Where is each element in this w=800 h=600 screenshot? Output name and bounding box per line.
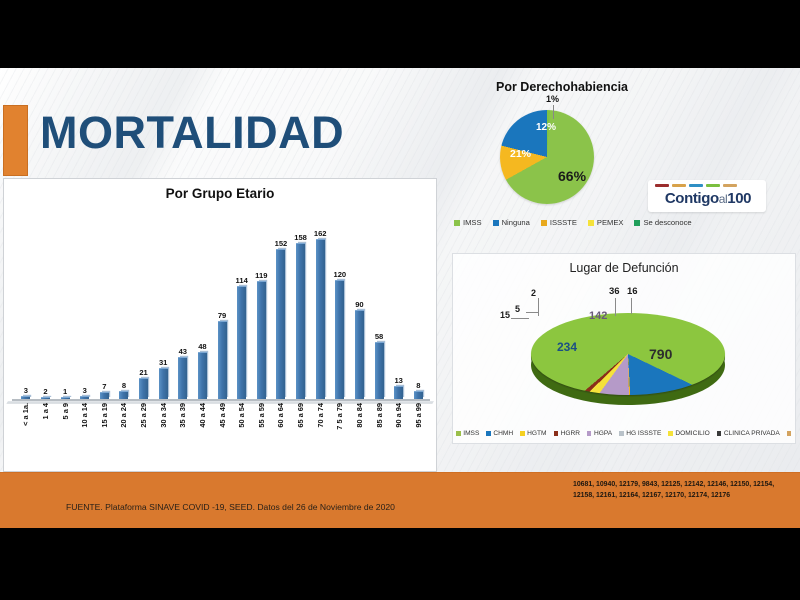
- logo-word-100: 100: [727, 190, 751, 207]
- bar-value-label: 120: [333, 270, 346, 279]
- bar-column: 48: [193, 209, 213, 399]
- pie-slice-label-hgtm-count: 15: [500, 310, 510, 320]
- legend-label: HG ISSSTE: [626, 430, 661, 437]
- legend-label: Se desconoce: [643, 218, 691, 227]
- logo-dash: [672, 184, 686, 187]
- derechohabiencia-legend: IMSSNingunaISSSTEPEMEXSe desconoce: [446, 218, 746, 227]
- legend-item: PEMEX: [588, 218, 624, 227]
- leader-line-36: [615, 298, 616, 316]
- footer-source-text: FUENTE. Plataforma SINAVE COVID -19, SEE…: [66, 502, 395, 512]
- derechohabiencia-title: Por Derechohabiencia: [440, 80, 684, 94]
- pie-slice-label-hgrr-count: 5: [515, 304, 520, 314]
- x-axis-label: 90 a 94: [389, 403, 409, 467]
- bar-rect: [139, 378, 148, 399]
- bar-column: 8: [409, 209, 429, 399]
- x-axis-label: < a 1a.: [16, 403, 36, 467]
- bar-rect: [178, 357, 187, 399]
- x-axis-label: 70 a 74: [310, 403, 330, 467]
- legend-item: HGTM: [520, 430, 546, 437]
- slide-canvas: MORTALIDAD Por Grupo Etario 321378213143…: [0, 68, 800, 528]
- logo-dash: [706, 184, 720, 187]
- lugar-defuncion-chart: 790 234 142 36 16 15 5 2: [453, 280, 797, 408]
- bar-column: 43: [173, 209, 193, 399]
- lugar-defuncion-pie-graphic: [531, 313, 725, 395]
- bar-value-label: 31: [159, 358, 167, 367]
- legend-swatch: [541, 220, 547, 226]
- logo-dashes: [655, 184, 737, 187]
- bar-value-label: 43: [179, 347, 187, 356]
- x-axis-label: 40 a 44: [193, 403, 213, 467]
- x-axis-label: 85 a 89: [369, 403, 389, 467]
- pie-slice-label-chmh-count: 234: [557, 340, 577, 354]
- bar-rect: [237, 286, 246, 399]
- pie-slice-label-issste: 12%: [536, 122, 556, 133]
- x-axis-label: 30 a 34: [153, 403, 173, 467]
- x-axis-label: 95 a 99: [409, 403, 429, 467]
- legend-swatch: [520, 431, 525, 436]
- legend-label: HGPA: [594, 430, 612, 437]
- bar-rect: [100, 392, 109, 399]
- bar-rect: [296, 243, 305, 399]
- letterbox-top: [0, 0, 800, 68]
- bar-value-label: 3: [24, 386, 28, 395]
- pie-slice-label-pemex: 1%: [546, 94, 559, 104]
- bar-chart-x-axis-labels: < a 1a.1 a 45 a 910 a 1415 a 1920 a 2425…: [16, 403, 428, 467]
- bar-rect: [355, 310, 364, 399]
- pie-slice-label-hgpa-count: 2: [531, 288, 536, 298]
- pie-slice-label-domicilio-count: 36: [609, 286, 620, 297]
- bar-rect: [316, 239, 325, 399]
- logo-dash: [655, 184, 669, 187]
- bar-column: 3: [16, 209, 36, 399]
- bar-value-label: 48: [198, 342, 206, 351]
- x-axis-label: 50 a 54: [232, 403, 252, 467]
- legend-item: HGPA: [587, 430, 612, 437]
- legend-label: CLINICA PRIVADA: [724, 430, 780, 437]
- bar-column: 152: [271, 209, 291, 399]
- x-axis-label: 35 a 39: [173, 403, 193, 467]
- legend-swatch: [454, 220, 460, 226]
- bar-column: 90: [350, 209, 370, 399]
- bar-column: 3: [75, 209, 95, 399]
- legend-swatch: [554, 431, 559, 436]
- legend-swatch: [668, 431, 673, 436]
- bar-column: 119: [252, 209, 272, 399]
- legend-swatch: [787, 431, 792, 436]
- x-axis-label: 20 a 24: [114, 403, 134, 467]
- legend-item: [787, 431, 794, 436]
- bar-rect: [218, 321, 227, 399]
- bar-value-label: 3: [83, 386, 87, 395]
- letterbox-bottom: [0, 528, 800, 600]
- legend-swatch: [587, 431, 592, 436]
- bar-chart-panel: Por Grupo Etario 32137821314348791141191…: [3, 178, 437, 472]
- bar-chart-plot: 3213782131434879114119152158162120905813…: [16, 209, 428, 399]
- legend-label: ISSSTE: [550, 218, 577, 227]
- bar-column: 21: [134, 209, 154, 399]
- bar-value-label: 158: [294, 233, 307, 242]
- bar-column: 8: [114, 209, 134, 399]
- legend-item: Ninguna: [493, 218, 530, 227]
- x-axis-label: 1 a 4: [36, 403, 56, 467]
- legend-label: DOMICILIO: [675, 430, 709, 437]
- legend-swatch: [456, 431, 461, 436]
- bar-value-label: 152: [275, 239, 288, 248]
- bar-value-label: 79: [218, 311, 226, 320]
- legend-item: ISSSTE: [541, 218, 577, 227]
- bar-value-label: 162: [314, 229, 327, 238]
- bar-value-label: 114: [236, 276, 248, 285]
- bar-value-label: 119: [255, 271, 267, 280]
- legend-label: IMSS: [463, 430, 479, 437]
- pie-slice-label-imss-count: 790: [649, 346, 672, 362]
- x-axis-label: 25 a 29: [134, 403, 154, 467]
- title-accent-bar: [3, 105, 28, 176]
- bar-value-label: 8: [416, 381, 420, 390]
- legend-swatch: [588, 220, 594, 226]
- leader-line-2: [538, 298, 539, 316]
- logo-word-al: al: [719, 192, 728, 206]
- lugar-defuncion-legend: IMSSCHMHHGTMHGRRHGPAHG ISSSTEDOMICILIOCL…: [453, 430, 797, 437]
- leader-line-5: [526, 312, 538, 313]
- leader-line-16: [631, 298, 632, 314]
- logo-dash: [723, 184, 737, 187]
- bar-column: 31: [153, 209, 173, 399]
- legend-label: HGRR: [561, 430, 580, 437]
- pie-slice-label-ninguna: 21%: [510, 148, 531, 160]
- bar-rect: [159, 368, 168, 399]
- bar-value-label: 7: [102, 382, 106, 391]
- legend-item: CLINICA PRIVADA: [717, 430, 780, 437]
- x-axis-label: 65 a 69: [291, 403, 311, 467]
- bar-rect: [375, 342, 384, 399]
- bar-column: 120: [330, 209, 350, 399]
- x-axis-label: 60 a 64: [271, 403, 291, 467]
- bar-chart-axis: [12, 399, 430, 401]
- legend-label: CHMH: [493, 430, 513, 437]
- bar-column: 79: [212, 209, 232, 399]
- lugar-defuncion-title: Lugar de Defunción: [453, 261, 795, 275]
- bar-column: 162: [310, 209, 330, 399]
- footer-case-numbers: 10681, 10940, 12179, 9843, 12125, 12142,…: [573, 480, 788, 501]
- lugar-defuncion-panel: Lugar de Defunción 790 234 142 36 16 15 …: [452, 253, 796, 444]
- leader-line-15: [511, 318, 529, 319]
- legend-swatch: [493, 220, 499, 226]
- x-axis-label: 55 a 59: [252, 403, 272, 467]
- logo-word-contigo: Contigo: [665, 190, 719, 207]
- bar-column: 114: [232, 209, 252, 399]
- page-title: MORTALIDAD: [40, 110, 344, 155]
- legend-item: DOMICILIO: [668, 430, 709, 437]
- pie-slice-label-imss: 66%: [558, 168, 586, 184]
- logo-dash: [689, 184, 703, 187]
- bar-value-label: 21: [139, 368, 147, 377]
- legend-swatch: [486, 431, 491, 436]
- legend-item: IMSS: [454, 218, 482, 227]
- x-axis-label: 15 a 19: [95, 403, 115, 467]
- derechohabiencia-chart: Por Derechohabiencia 66% 21% 12% 1% IMSS…: [440, 80, 796, 250]
- x-axis-label: 5 a 9: [55, 403, 75, 467]
- legend-label: HGTM: [527, 430, 546, 437]
- bar-series: 3213782131434879114119152158162120905813…: [16, 209, 428, 399]
- legend-item: IMSS: [456, 430, 479, 437]
- bar-rect: [257, 281, 266, 399]
- bar-value-label: 13: [394, 376, 402, 385]
- legend-swatch: [634, 220, 640, 226]
- legend-label: PEMEX: [597, 218, 624, 227]
- pie-slice-label-clinica-count: 16: [627, 286, 638, 297]
- bar-chart-title: Por Grupo Etario: [4, 186, 436, 201]
- legend-swatch: [619, 431, 624, 436]
- bar-column: 2: [36, 209, 56, 399]
- footer-bar: FUENTE. Plataforma SINAVE COVID -19, SEE…: [0, 472, 800, 528]
- contigo-al-100-logo: Contigoal100: [648, 180, 766, 212]
- slide-root: MORTALIDAD Por Grupo Etario 321378213143…: [0, 0, 800, 600]
- x-axis-label: 80 a 84: [350, 403, 370, 467]
- x-axis-label: 45 a 49: [212, 403, 232, 467]
- bar-column: 158: [291, 209, 311, 399]
- bar-rect: [414, 391, 423, 399]
- bar-value-label: 1: [63, 387, 67, 396]
- bar-rect: [198, 352, 207, 399]
- x-axis-label: 10 a 14: [75, 403, 95, 467]
- bar-rect: [394, 386, 403, 399]
- legend-item: HG ISSSTE: [619, 430, 661, 437]
- legend-label: Ninguna: [502, 218, 530, 227]
- bar-column: 1: [55, 209, 75, 399]
- legend-swatch: [717, 431, 722, 436]
- bar-value-label: 2: [43, 387, 47, 396]
- legend-item: HGRR: [554, 430, 580, 437]
- bar-column: 58: [369, 209, 389, 399]
- legend-label: IMSS: [463, 218, 482, 227]
- bar-rect: [276, 249, 285, 399]
- legend-item: Se desconoce: [634, 218, 691, 227]
- bar-value-label: 58: [375, 332, 383, 341]
- x-axis-label: 7 5 a 79: [330, 403, 350, 467]
- bar-column: 7: [95, 209, 115, 399]
- bar-rect: [119, 391, 128, 399]
- bar-column: 13: [389, 209, 409, 399]
- legend-item: CHMH: [486, 430, 513, 437]
- bar-rect: [335, 280, 344, 399]
- bar-value-label: 90: [355, 300, 363, 309]
- bar-value-label: 8: [122, 381, 126, 390]
- pie-slice-label-hgissste-count: 142: [589, 310, 607, 322]
- derechohabiencia-leader-line: [553, 105, 554, 119]
- logo-text: Contigoal100: [654, 190, 762, 209]
